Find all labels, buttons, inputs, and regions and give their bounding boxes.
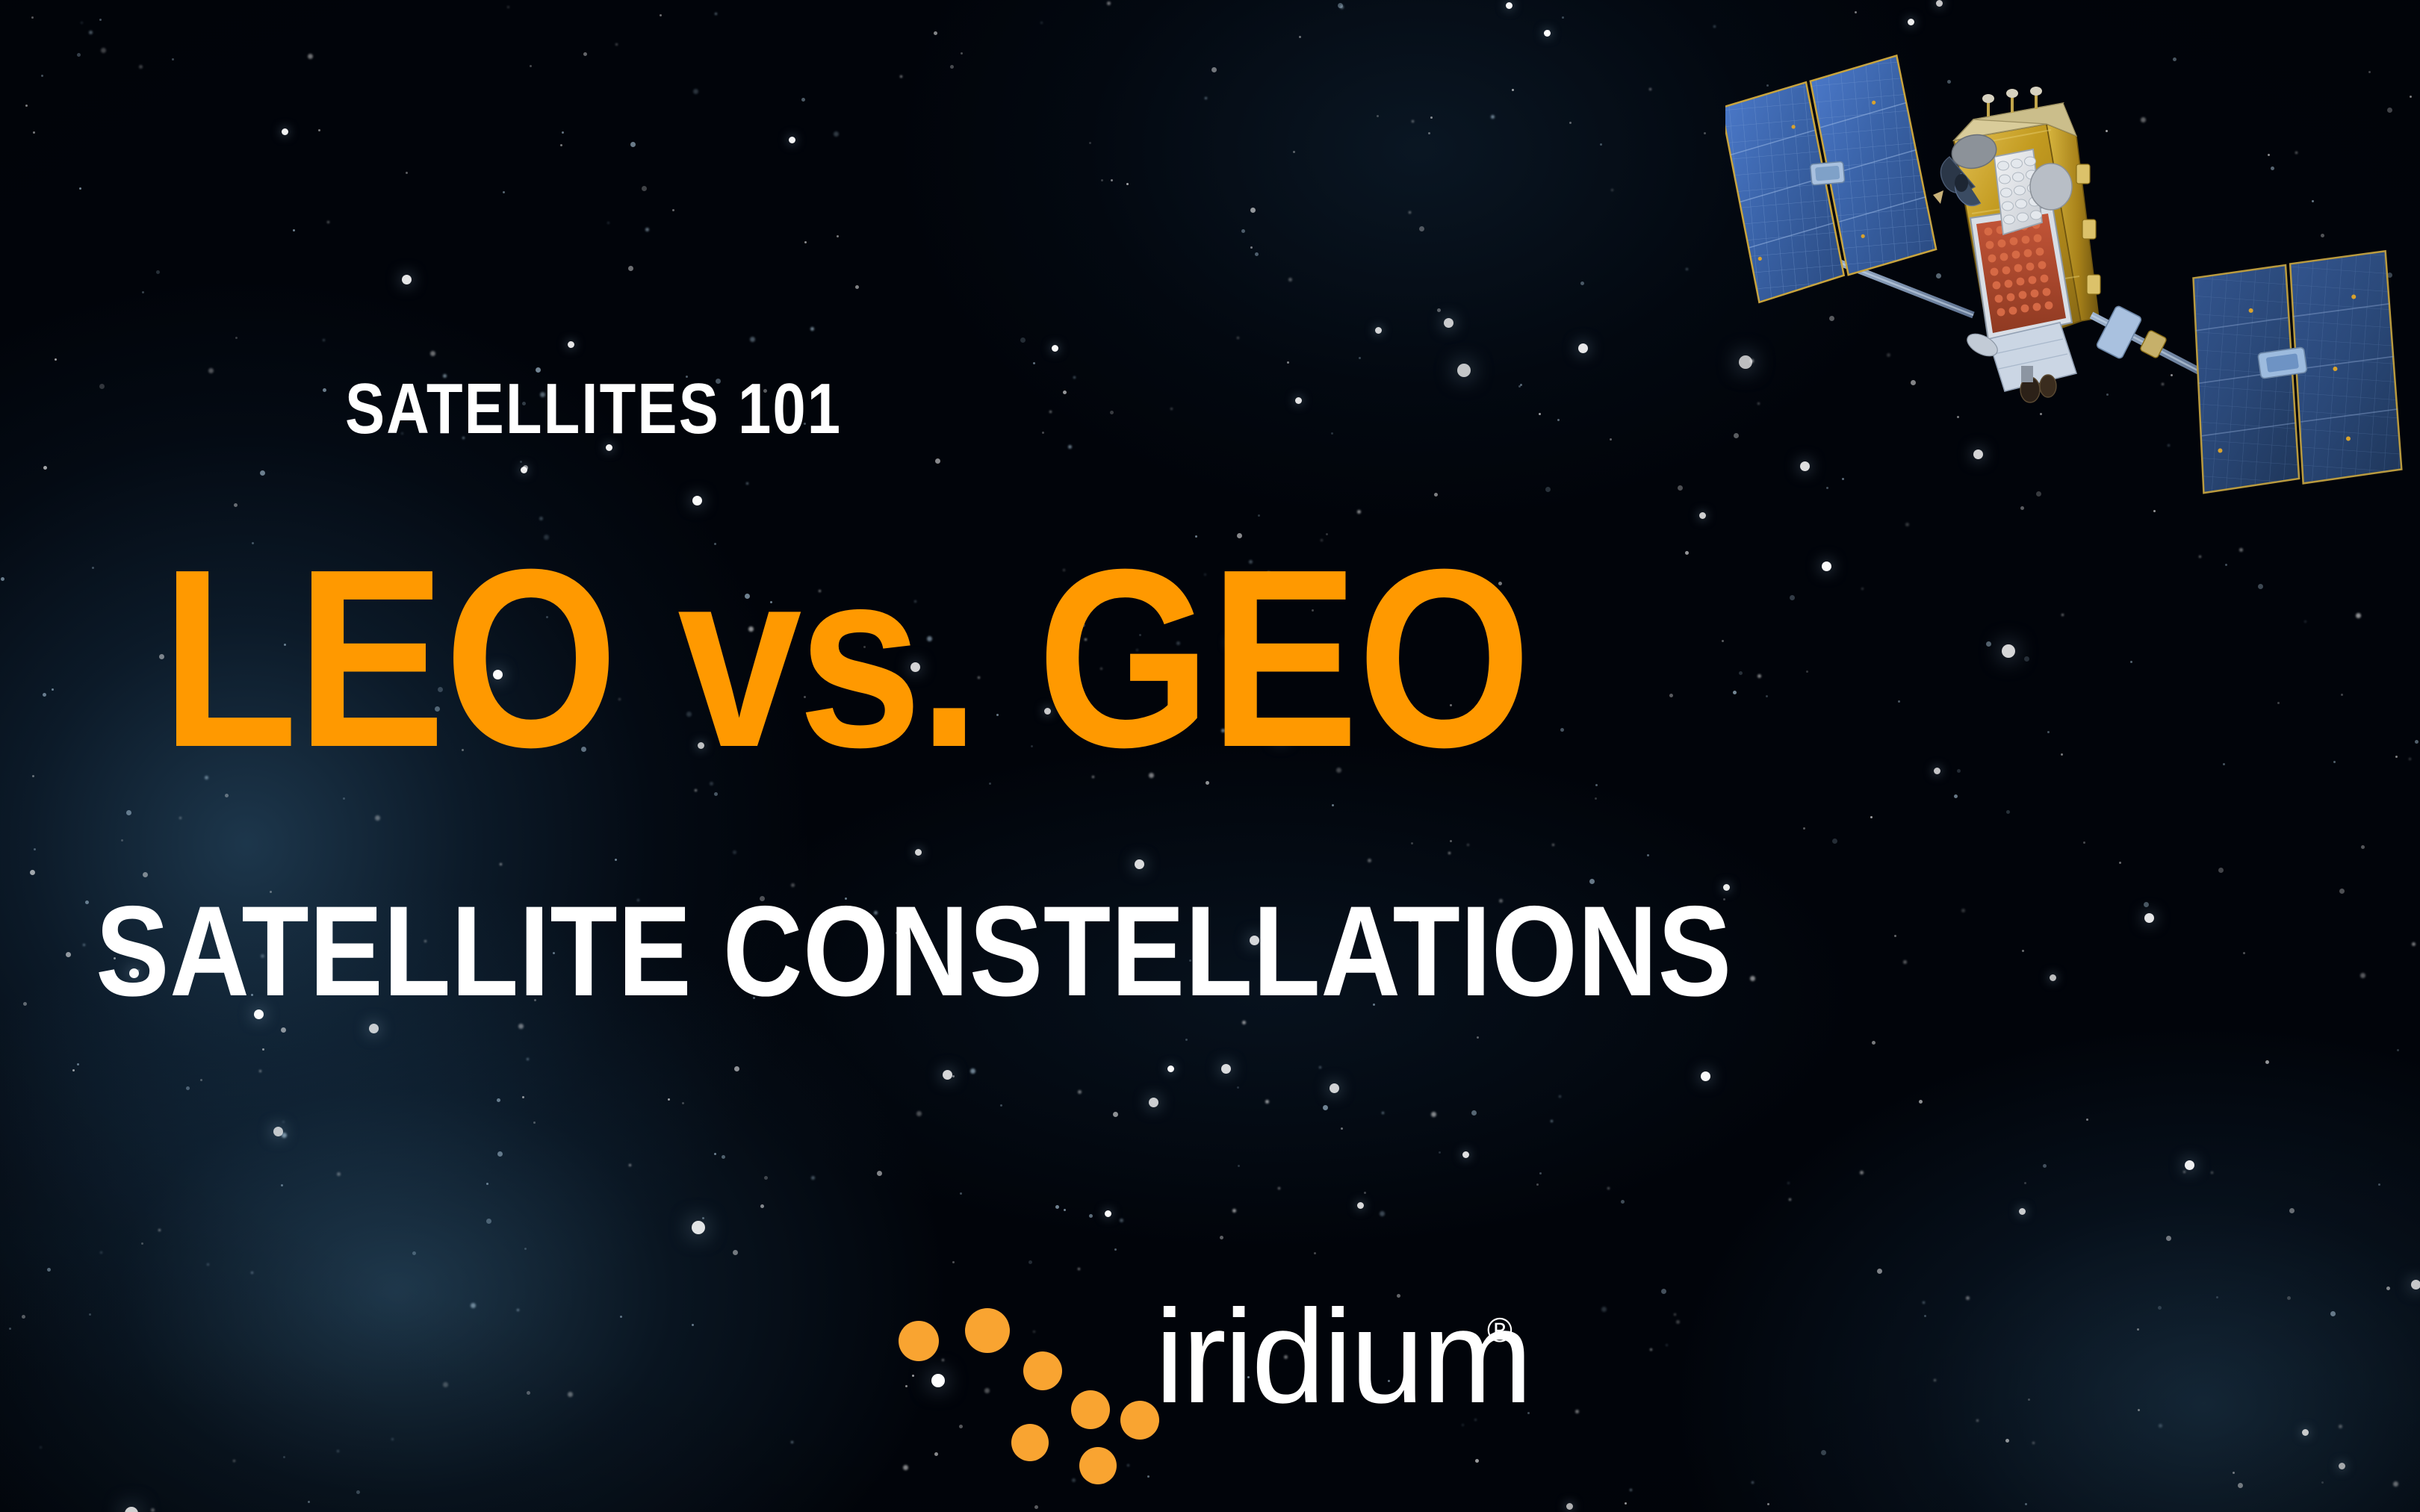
eyebrow-label: SATELLITES 101 bbox=[345, 373, 842, 445]
iridium-constellation-dots-icon bbox=[893, 1305, 1140, 1440]
title-card-canvas: SATELLITES 101 LEO vs. GEO SATELLITE CON… bbox=[0, 0, 2420, 1512]
logo-dot-3 bbox=[1023, 1351, 1062, 1390]
page-title: LEO vs. GEO bbox=[161, 532, 1530, 785]
logo-dot-4 bbox=[1071, 1390, 1110, 1429]
headline-geo: GEO bbox=[1037, 517, 1530, 800]
registered-trademark-symbol: ® bbox=[1487, 1313, 1512, 1347]
headline-leo: LEO bbox=[161, 517, 617, 800]
logo-dot-1 bbox=[899, 1321, 939, 1361]
page-subtitle: SATELLITE CONSTELLATIONS bbox=[96, 887, 1732, 1015]
logo-dot-7 bbox=[1120, 1401, 1159, 1440]
logo-dot-6 bbox=[1079, 1447, 1117, 1484]
logo-dot-5 bbox=[1011, 1424, 1049, 1461]
iridium-wordmark: iridium bbox=[1155, 1290, 1530, 1423]
headline-vs: vs. bbox=[677, 517, 976, 800]
iridium-logo[interactable]: iridium ® bbox=[893, 1305, 1521, 1440]
logo-dot-2 bbox=[965, 1308, 1010, 1353]
